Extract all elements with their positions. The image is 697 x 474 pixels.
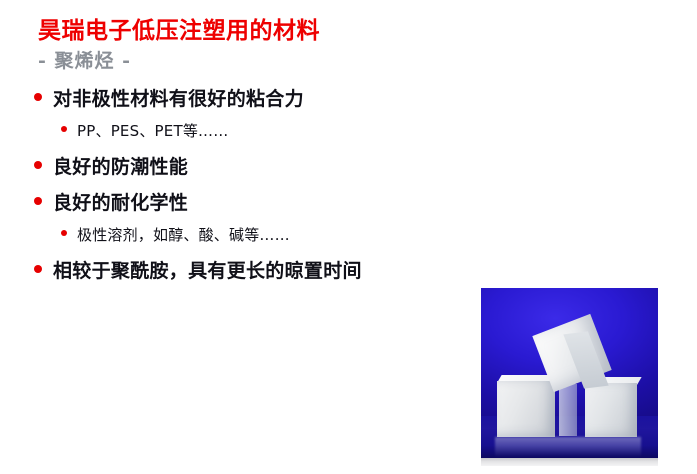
list-item-label: 相较于聚酰胺，具有更长的晾置时间 <box>53 256 362 283</box>
list-item: PP、PES、PET等…… <box>61 120 464 141</box>
photo-bottom-strip <box>481 458 658 466</box>
list-item: 对非极性材料有很好的粘合力 <box>34 84 464 111</box>
cube-center-stem <box>559 384 577 436</box>
list-item: 相较于聚酰胺，具有更长的晾置时间 <box>34 256 464 283</box>
slide-subtitle: - 聚烯烃 - <box>38 46 131 73</box>
cube-right <box>585 383 637 437</box>
list-item: 极性溶剂，如醇、酸、碱等…… <box>61 224 464 245</box>
bullet-dot-icon <box>34 197 42 205</box>
bullet-dot-icon <box>34 161 42 169</box>
slide-canvas: 昊瑞电子低压注塑用的材料 - 聚烯烃 - 对非极性材料有很好的粘合力 PP、PE… <box>0 0 697 474</box>
list-item-label: 极性溶剂，如醇、酸、碱等…… <box>77 224 290 245</box>
list-item: 良好的防潮性能 <box>34 152 464 179</box>
bullet-dot-icon <box>61 126 67 132</box>
list-item-label: 良好的防潮性能 <box>53 152 188 179</box>
bullet-list: 对非极性材料有很好的粘合力 PP、PES、PET等…… 良好的防潮性能 良好的耐… <box>34 84 464 292</box>
list-item-label: PP、PES、PET等…… <box>77 120 228 141</box>
slide-title: 昊瑞电子低压注塑用的材料 <box>38 11 320 45</box>
photo-reflection <box>495 437 641 457</box>
list-item-label: 对非极性材料有很好的粘合力 <box>53 84 304 111</box>
polyolefin-blocks-photo <box>481 288 658 466</box>
bullet-dot-icon <box>34 265 42 273</box>
cube-left <box>497 381 555 437</box>
bullet-dot-icon <box>34 93 42 101</box>
list-item-label: 良好的耐化学性 <box>53 188 188 215</box>
list-item: 良好的耐化学性 <box>34 188 464 215</box>
bullet-dot-icon <box>61 230 67 236</box>
